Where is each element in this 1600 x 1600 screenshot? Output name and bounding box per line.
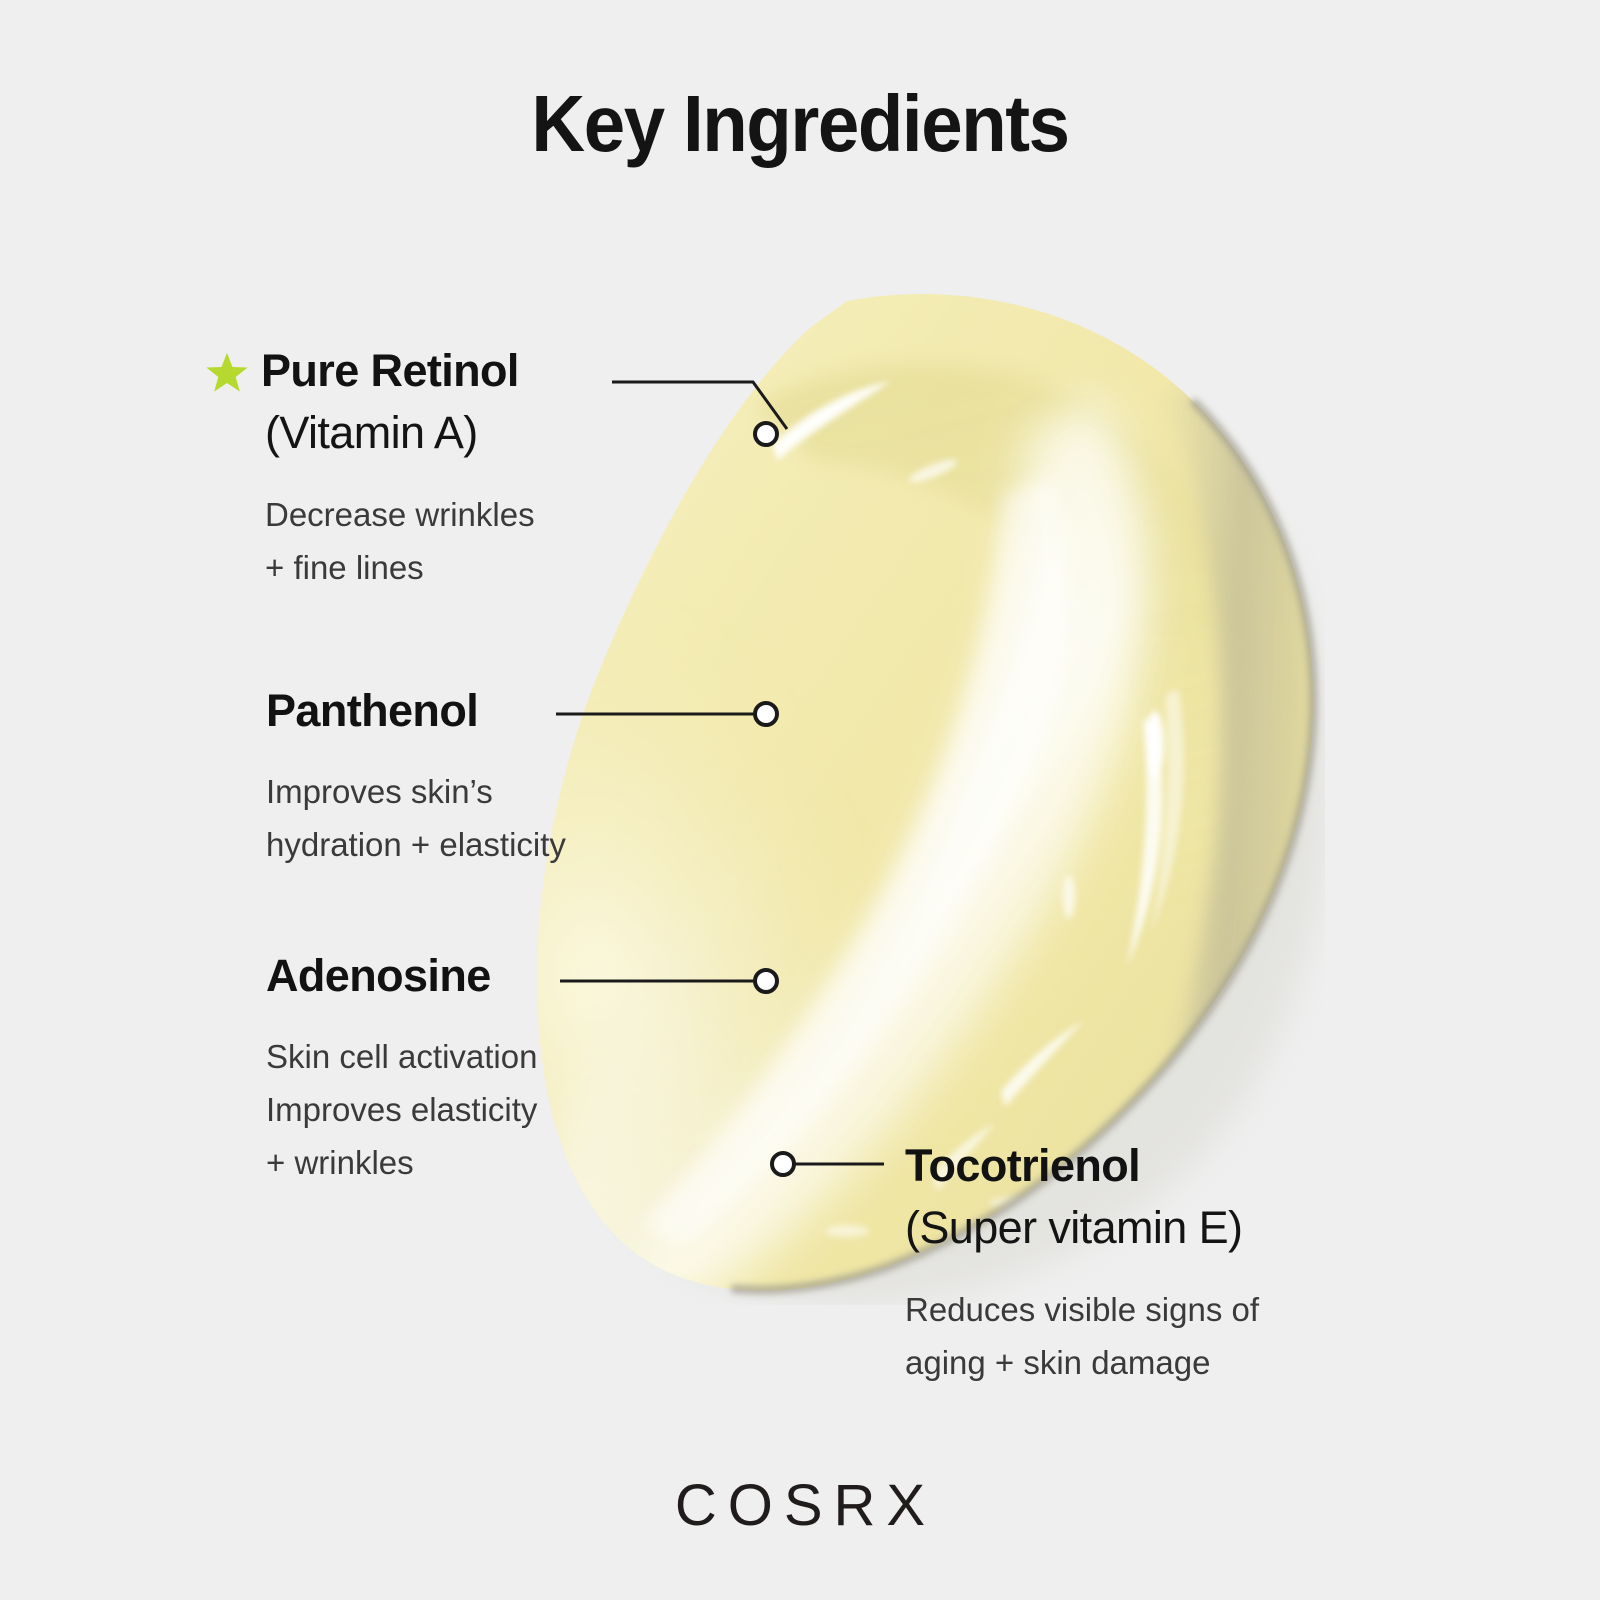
leader-dot-pure-retinol [755, 423, 777, 445]
ingredient-description: Improves skin’s hydration + elasticity [266, 765, 566, 871]
description-line: hydration + elasticity [266, 818, 566, 871]
leader-line-pure-retinol [612, 382, 787, 429]
description-line: Reduces visible signs of [905, 1283, 1259, 1336]
leader-dot-tocotrienol [772, 1153, 794, 1175]
ingredient-description: Decrease wrinkles + fine lines [265, 488, 535, 594]
description-line: aging + skin damage [905, 1336, 1259, 1389]
cream-gloss-streaks [773, 381, 1184, 1237]
ingredient-description: Skin cell activation Improves elasticity… [266, 1030, 537, 1189]
ingredient-heading-row: Panthenol [266, 680, 566, 742]
ingredient-description: Reduces visible signs of aging + skin da… [905, 1283, 1259, 1389]
ingredient-name: Tocotrienol [905, 1135, 1140, 1197]
ingredient-heading-row: Adenosine [266, 945, 537, 1007]
star-icon [205, 351, 249, 395]
leader-dot-adenosine [755, 970, 777, 992]
description-line: Skin cell activation [266, 1030, 537, 1083]
ingredient-callout-pure-retinol: Pure Retinol (Vitamin A) Decrease wrinkl… [205, 340, 535, 594]
ingredient-subtitle: (Vitamin A) [265, 402, 535, 464]
infographic-canvas: Key Ingredients [0, 0, 1600, 1600]
leader-lines [0, 0, 1600, 1600]
ingredient-name: Adenosine [266, 945, 491, 1007]
ingredient-callout-adenosine: Adenosine Skin cell activation Improves … [266, 945, 537, 1189]
description-line: Improves skin’s [266, 765, 566, 818]
ingredient-callout-tocotrienol: Tocotrienol (Super vitamin E) Reduces vi… [905, 1135, 1259, 1389]
description-line: Improves elasticity [266, 1083, 537, 1136]
brand-logo: COSRX [0, 1472, 1600, 1539]
ingredient-subtitle: (Super vitamin E) [905, 1197, 1259, 1259]
ingredient-name: Pure Retinol [261, 340, 519, 402]
description-line: + wrinkles [266, 1136, 537, 1189]
description-line: + fine lines [265, 541, 535, 594]
page-title: Key Ingredients [56, 78, 1544, 170]
ingredient-name: Panthenol [266, 680, 478, 742]
ingredient-callout-panthenol: Panthenol Improves skin’s hydration + el… [266, 680, 566, 871]
ingredient-heading-row: Pure Retinol [205, 340, 535, 402]
description-line: Decrease wrinkles [265, 488, 535, 541]
leader-dot-panthenol [755, 703, 777, 725]
ingredient-heading-row: Tocotrienol [905, 1135, 1259, 1197]
